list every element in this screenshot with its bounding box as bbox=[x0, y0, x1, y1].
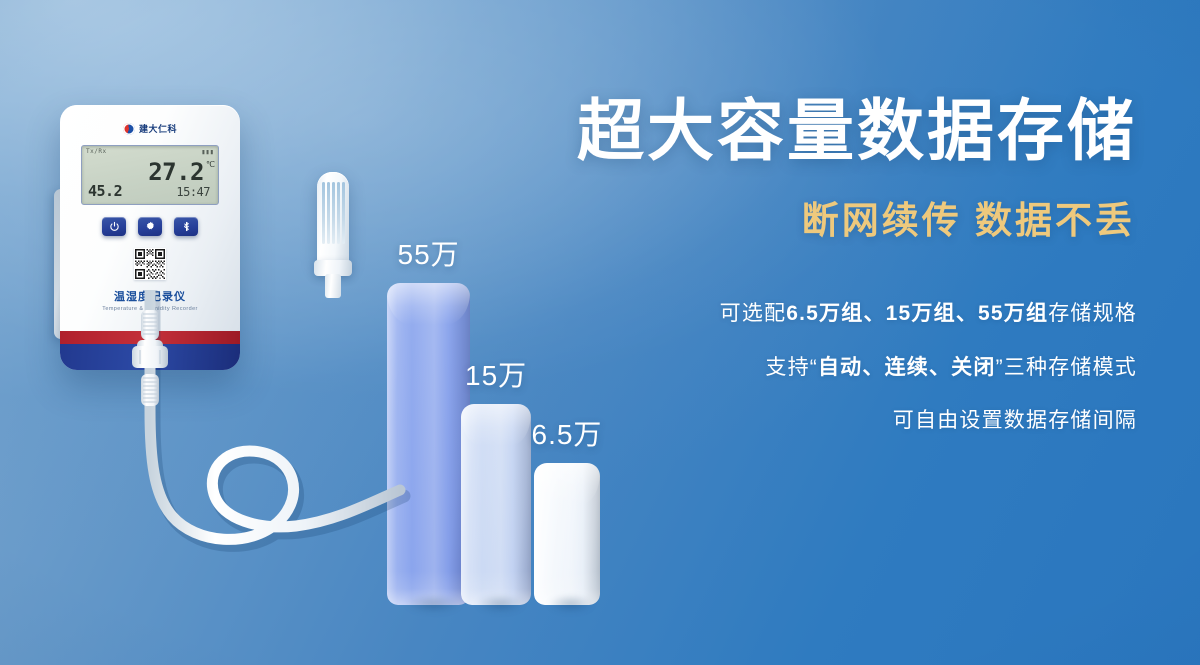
probe-vent-slot bbox=[332, 182, 335, 244]
probe-vent-slot bbox=[322, 182, 325, 244]
feature-bullet-storage-specs: 可选配6.5万组、15万组、55万组存储规格 bbox=[505, 300, 1137, 328]
bluetooth-button[interactable] bbox=[174, 217, 198, 236]
feature-bullet-storage-modes: 支持“自动、连续、关闭”三种存储模式 bbox=[505, 354, 1137, 382]
qr-code[interactable] bbox=[134, 248, 166, 280]
power-icon bbox=[109, 221, 120, 232]
cable-strain-relief-lower bbox=[141, 374, 159, 406]
bar-6.5万[interactable] bbox=[534, 463, 600, 605]
bullet-segment: 支持“ bbox=[765, 356, 818, 379]
device-button-row bbox=[60, 217, 240, 236]
brand-name: 建大仁科 bbox=[139, 122, 177, 135]
bullet-segment: ”三种存储模式 bbox=[996, 356, 1137, 379]
lcd-time-value: 15:47 bbox=[176, 185, 210, 199]
bluetooth-icon bbox=[181, 221, 192, 232]
feature-bullet-storage-interval: 可自由设置数据存储间隔 bbox=[505, 407, 1137, 435]
cable-path bbox=[150, 290, 400, 539]
battery-icon: ▮▮▮ bbox=[201, 148, 214, 156]
bullet-segment: 可选配 bbox=[720, 302, 787, 325]
cable-strain-relief-upper bbox=[141, 310, 159, 340]
bar-shadow bbox=[539, 591, 602, 617]
probe-cable bbox=[110, 290, 440, 590]
lcd-temperature-value: 27.2 bbox=[148, 160, 204, 184]
marketing-copy: 超大容量数据存储 断网续传 数据不丢 可选配6.5万组、15万组、55万组存储规… bbox=[505, 96, 1145, 435]
qr-code-icon bbox=[135, 249, 165, 279]
power-button[interactable] bbox=[102, 217, 126, 236]
lcd-humidity-value: 45.2 bbox=[88, 182, 122, 200]
bullet-segment: 自动、连续、关闭 bbox=[818, 356, 996, 379]
lcd-temperature-unit: ℃ bbox=[206, 160, 215, 169]
brand-mark-icon bbox=[123, 123, 135, 135]
bullet-segment: 存储规格 bbox=[1048, 302, 1137, 325]
probe-sensor-head bbox=[317, 172, 349, 264]
bullet-segment: 6.5万组、15万组、55万组 bbox=[786, 302, 1048, 325]
product-banner: 55万 15万 6.5万 建大仁科 bbox=[0, 0, 1200, 665]
subtitle: 断网续传 数据不丢 bbox=[505, 190, 1145, 244]
cable-connector bbox=[132, 340, 168, 368]
bar-body bbox=[534, 463, 600, 605]
probe-vent-slot bbox=[337, 182, 340, 244]
lcd-signal-indicator: Tx/Rx bbox=[86, 148, 107, 155]
bullet-segment: 可自由设置数据存储间隔 bbox=[893, 409, 1137, 432]
lcd-display: Tx/Rx ▮▮▮ 27.2 ℃ 45.2 15:47 bbox=[81, 145, 219, 205]
bar-top-highlight bbox=[534, 463, 600, 505]
probe-vent-slot bbox=[327, 182, 330, 244]
settings-button[interactable] bbox=[138, 217, 162, 236]
page-title: 超大容量数据存储 bbox=[505, 96, 1145, 168]
gear-icon bbox=[145, 221, 156, 232]
temperature-humidity-probe[interactable] bbox=[311, 172, 355, 298]
bar-shadow bbox=[467, 591, 534, 617]
probe-vent-slot bbox=[342, 182, 345, 244]
device-brand-logo: 建大仁科 bbox=[60, 122, 240, 135]
bar-label-0: 55万 bbox=[398, 233, 460, 273]
feature-bullet-list: 可选配6.5万组、15万组、55万组存储规格支持“自动、连续、关闭”三种存储模式… bbox=[505, 300, 1145, 435]
